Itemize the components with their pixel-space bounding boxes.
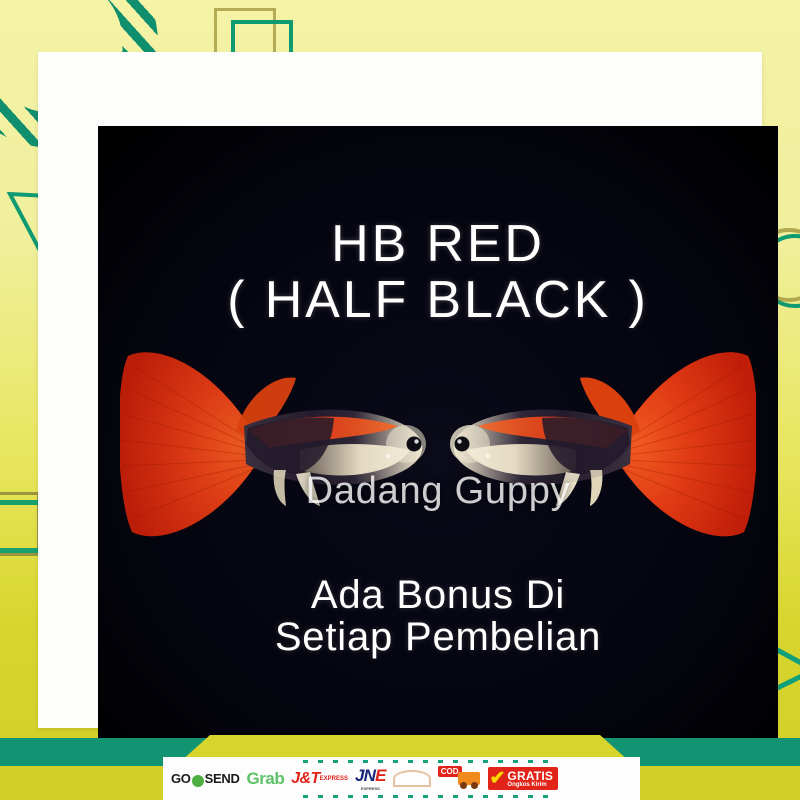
jne-logo: JNE EXPRESS [355,766,386,791]
gratis-text: GRATIS [507,770,553,782]
jne-sub: EXPRESS [355,786,386,791]
guppy-fish-left [120,322,450,572]
photo-area: HB RED ( HALF BLACK ) [98,126,778,758]
jnt-sub: EXPRESS [320,776,348,782]
gosend-logo: GO SEND [171,771,240,786]
cod-truck-icon [458,772,480,785]
headline-line-1: HB RED [98,218,778,270]
headline-line-2: ( HALF BLACK ) [98,274,778,326]
jnt-text: J&T [291,770,319,788]
square-outline-left-decoration [0,492,40,556]
gosend-text-go: GO [171,771,191,786]
poster-canvas: HB RED ( HALF BLACK ) [0,0,800,800]
jne-text-jn: JN [355,766,375,785]
watermark-text: Dadang Guppy [98,470,778,513]
promo-line-2: Setiap Pembelian [98,616,778,658]
guppy-fish-right [426,322,756,572]
checkmark-icon: ✔ [490,769,506,788]
jnt-express-logo: J&TEXPRESS [291,770,348,788]
gosend-dot-icon [192,775,204,787]
ongkir-text: Ongkos Kirim [507,782,553,788]
jne-text-e: E [375,766,386,785]
cod-logo: COD [438,772,480,785]
photo-frame: HB RED ( HALF BLACK ) [38,52,762,728]
gratis-ongkir-badge: ✔ GRATIS Ongkos Kirim [487,766,560,791]
sicepat-logo [393,770,431,787]
shipping-logo-strip: GO SEND Grab J&TEXPRESS JNE EXPRESS COD [163,757,640,800]
gosend-text-send: SEND [205,771,240,786]
sicepat-mark-icon [393,770,431,787]
grab-logo: Grab [247,769,285,789]
promo-line-1: Ada Bonus Di [98,574,778,616]
